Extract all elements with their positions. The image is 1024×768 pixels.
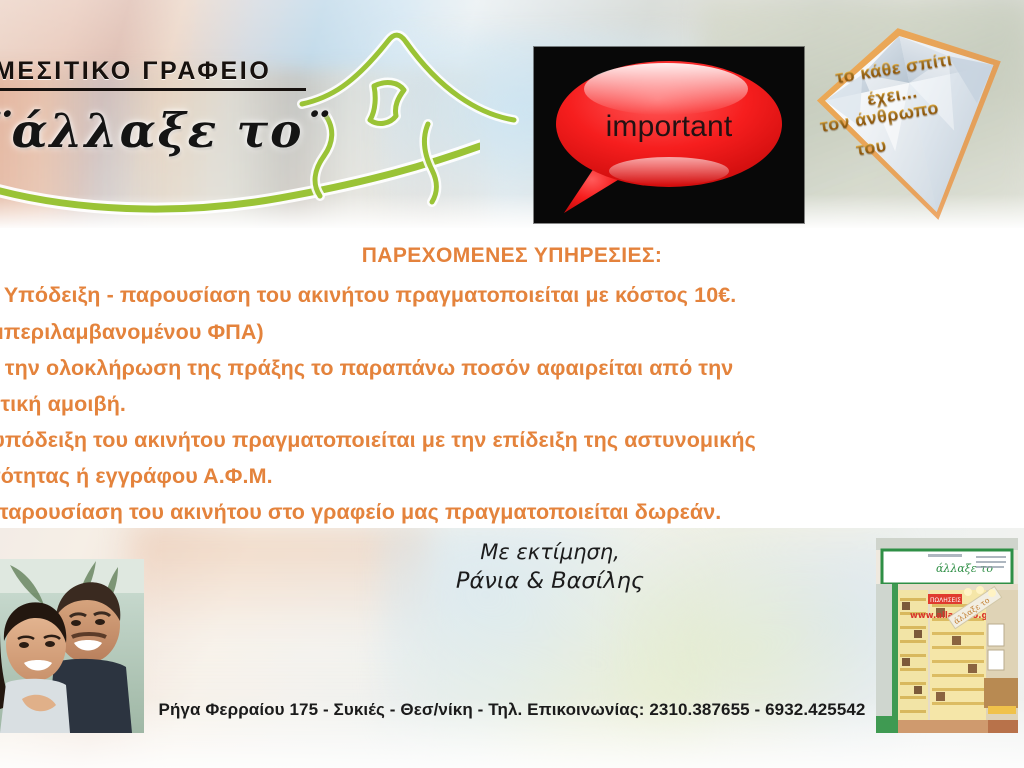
poster-canvas: ΜΕΣΙΤΙΚΟ ΓΡΑΦΕΙΟ ¨άλλαξε το¨: [0, 0, 1024, 768]
service-line-4: μεσιτική αμοιβή.: [0, 392, 1024, 417]
couple-photo-image: [0, 559, 144, 733]
service-line-3: * Με την ολοκλήρωση της πράξης το παραπά…: [0, 356, 1024, 381]
storefront-photo-image: άλλαξε το: [876, 538, 1018, 733]
important-bubble-box: important: [534, 47, 804, 223]
footer-address: Ρήγα Φερραίου 175 - Συκιές - Θεσ/νίκη - …: [0, 700, 1024, 720]
important-label: important: [534, 110, 804, 144]
svg-text:ΠΩΛΗΣΕΙΣ: ΠΩΛΗΣΕΙΣ: [930, 597, 961, 604]
service-line-2: (συμπεριλαμβανομένου ΦΠΑ): [0, 320, 1024, 345]
photo-storefront: άλλαξε το: [876, 538, 1018, 733]
photo-couple: [0, 559, 144, 733]
services-body: ΠΑΡΕΧΟΜΕΝΕΣ ΥΠΗΡΕΣΙΕΣ: * Η Υπόδειξη - πα…: [0, 228, 1024, 528]
service-line-6: ταυτότητας ή εγγράφου Α.Φ.Μ.: [0, 464, 1024, 489]
diamond-line-1: το κάθε σπίτι: [834, 49, 954, 88]
logo-title-underline: [0, 88, 306, 91]
service-line-7: * Η παρουσίαση του ακινήτου στο γραφείο …: [0, 500, 1024, 525]
svg-text:άλλαξε το: άλλαξε το: [936, 562, 993, 575]
signature-line-1: Με εκτίμηση,: [420, 538, 680, 566]
logo-wordmark: ¨άλλαξε το¨: [0, 104, 329, 159]
signature-block: Με εκτίμηση, Ράνια & Βασίλης: [420, 538, 680, 597]
services-heading: ΠΑΡΕΧΟΜΕΝΕΣ ΥΠΗΡΕΣΙΕΣ:: [0, 244, 1024, 268]
service-line-1: * Η Υπόδειξη - παρουσίαση του ακινήτου π…: [0, 283, 1024, 308]
logo-title: ΜΕΣΙΤΙΚΟ ΓΡΑΦΕΙΟ: [0, 57, 271, 86]
service-line-5: * Η υπόδειξη του ακινήτου πραγματοποιείτ…: [0, 428, 1024, 453]
diamond-badge: το κάθε σπίτι έχει... τον άνθρωπο του: [812, 18, 1024, 230]
diamond-line-4: του: [855, 135, 888, 161]
signature-line-2: Ράνια & Βασίλης: [420, 566, 680, 596]
